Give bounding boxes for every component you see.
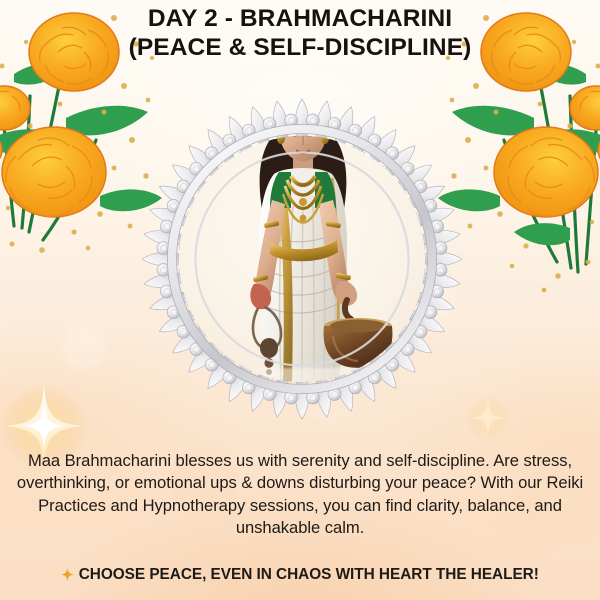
goddess-mandala-frame [133, 76, 471, 442]
cta-label: CHOOSE PEACE, EVEN IN CHAOS WITH HEART T… [79, 566, 539, 584]
sparkle-icon: ✦ [61, 568, 74, 583]
poster-title: DAY 2 - BRAHMACHARINI (PEACE & SELF-DISC… [0, 4, 600, 62]
title-line-1: DAY 2 - BRAHMACHARINI [0, 4, 600, 33]
title-line-2: (PEACE & SELF-DISCIPLINE) [0, 33, 600, 62]
body-paragraph: Maa Brahmacharini blesses us with sereni… [14, 450, 586, 540]
poster-cta: ✦ CHOOSE PEACE, EVEN IN CHAOS WITH HEART… [0, 566, 600, 584]
poster-body-text: Maa Brahmacharini blesses us with sereni… [0, 450, 600, 540]
